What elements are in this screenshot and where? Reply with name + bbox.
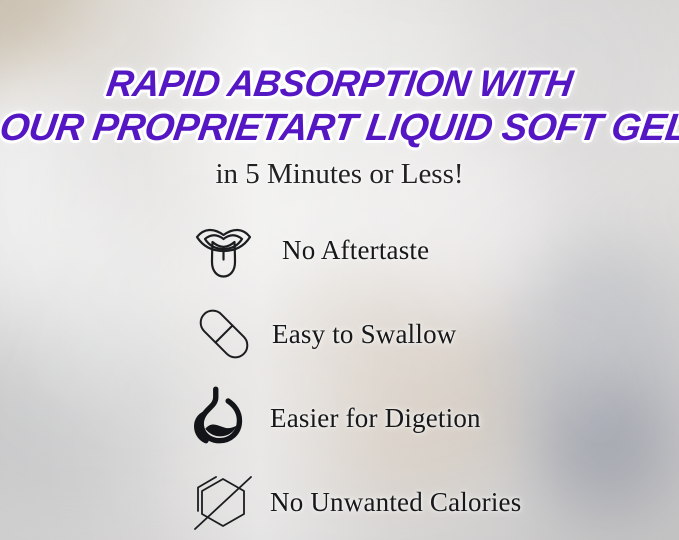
feature-row-easy-to-swallow: Easy to Swallow <box>188 292 608 376</box>
feature-label: No Aftertaste <box>282 235 429 266</box>
feature-label: No Unwanted Calories <box>270 487 521 518</box>
headline: RAPID ABSORPTION WITH OUR PROPRIETART LI… <box>0 62 679 150</box>
capsule-pill-icon <box>188 298 260 370</box>
headline-line-1: RAPID ABSORPTION WITH <box>0 62 679 106</box>
feature-list: No Aftertaste Easy to Swallow <box>188 208 608 540</box>
headline-line-2: OUR PROPRIETART LIQUID SOFT GELS <box>0 106 679 150</box>
feature-label: Easy to Swallow <box>272 319 457 350</box>
mouth-tongue-icon <box>188 214 260 286</box>
hexagon-slash-icon <box>188 466 260 538</box>
feature-row-easier-for-digestion: Easier for Digetion <box>188 376 608 460</box>
feature-row-no-aftertaste: No Aftertaste <box>188 208 608 292</box>
feature-row-no-unwanted-calories: No Unwanted Calories <box>188 460 608 540</box>
stomach-icon <box>188 382 260 454</box>
promo-poster: RAPID ABSORPTION WITH OUR PROPRIETART LI… <box>0 0 679 540</box>
subheadline: in 5 Minutes or Less! <box>0 158 679 191</box>
feature-label: Easier for Digetion <box>270 403 481 434</box>
